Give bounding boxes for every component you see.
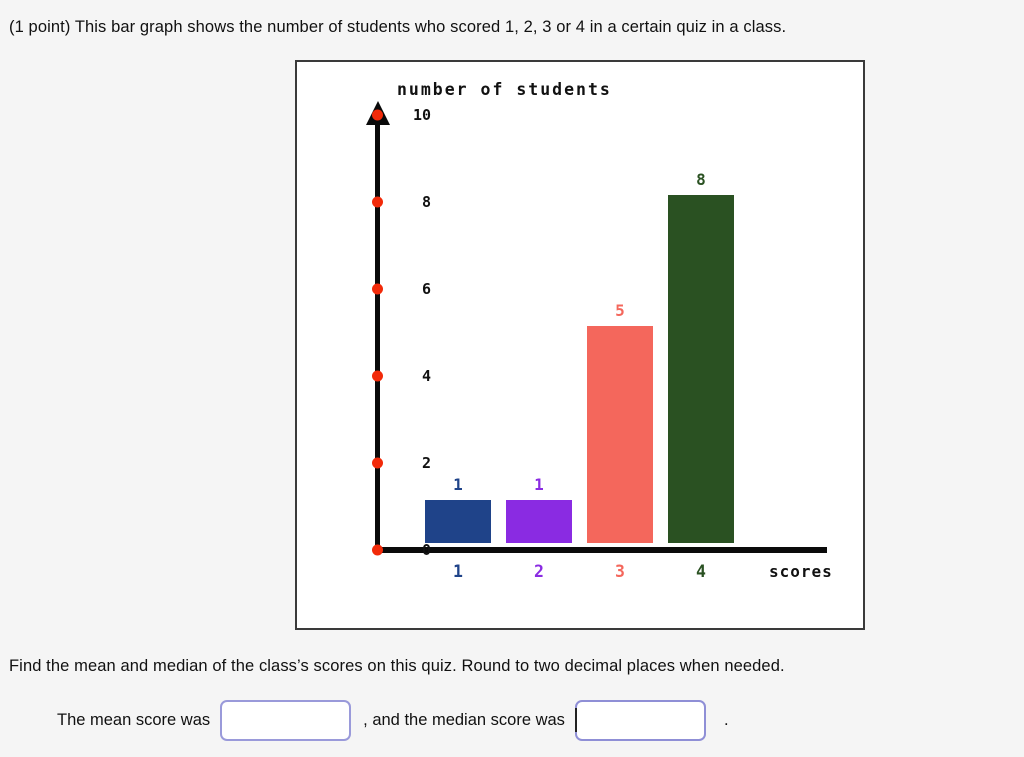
x-axis-title: scores xyxy=(769,562,833,581)
y-tick-label: 6 xyxy=(379,280,431,298)
bar-value-label-4: 8 xyxy=(668,170,734,189)
bar-value-label-3: 5 xyxy=(587,301,653,320)
question-prompt: (1 point) This bar graph shows the numbe… xyxy=(9,16,786,38)
y-tick-label: 10 xyxy=(379,106,431,124)
sentence-period: . xyxy=(724,711,729,730)
bar-1 xyxy=(425,500,491,544)
x-axis-line xyxy=(375,547,827,553)
median-score-input[interactable] xyxy=(575,700,706,741)
y-tick-label: 4 xyxy=(379,367,431,385)
x-tick-label-2: 2 xyxy=(506,562,572,581)
y-tick-label: 2 xyxy=(379,454,431,472)
bar-2 xyxy=(506,500,572,544)
median-input-wrapper xyxy=(565,700,716,741)
question-instruction: Find the mean and median of the class’s … xyxy=(9,655,785,677)
x-tick-label-4: 4 xyxy=(668,562,734,581)
bar-chart: number of students 1086420 1158 1234 sco… xyxy=(295,60,865,630)
mean-score-input[interactable] xyxy=(220,700,351,741)
y-tick-label: 8 xyxy=(379,193,431,211)
bar-value-label-2: 1 xyxy=(506,475,572,494)
text-cursor xyxy=(575,708,577,732)
mean-input-wrapper xyxy=(210,700,361,741)
bar-3 xyxy=(587,326,653,544)
bar-value-label-1: 1 xyxy=(425,475,491,494)
bar-4 xyxy=(668,195,734,543)
chart-plot-area: number of students 1086420 1158 1234 sco… xyxy=(297,62,863,628)
chart-title: number of students xyxy=(397,80,612,99)
x-tick-label-3: 3 xyxy=(587,562,653,581)
median-label: , and the median score was xyxy=(363,711,565,730)
answer-row: The mean score was , and the median scor… xyxy=(9,700,729,741)
y-axis-line xyxy=(375,110,380,553)
mean-label: The mean score was xyxy=(57,711,210,730)
y-tick-label: 0 xyxy=(379,541,431,559)
x-tick-label-1: 1 xyxy=(425,562,491,581)
